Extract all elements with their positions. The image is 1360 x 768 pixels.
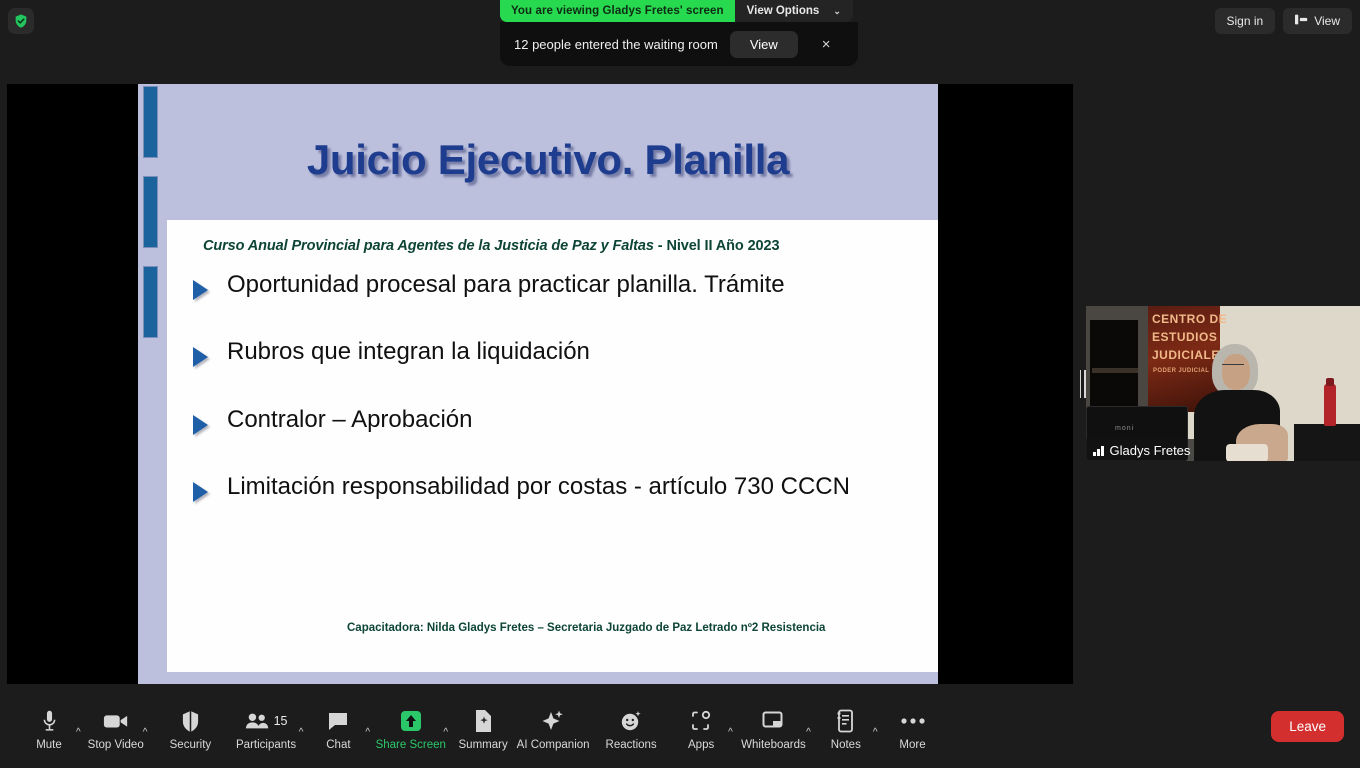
chevron-up-icon-chat[interactable]: ^	[365, 714, 370, 738]
toolbar-button-stop-video[interactable]: Stop Video	[85, 701, 147, 751]
video-camera-icon	[103, 707, 129, 735]
view-label: View	[1314, 14, 1340, 28]
toolbar-label-chat: Chat	[326, 739, 350, 751]
bullet-triangle-icon	[193, 415, 208, 435]
toolbar-group-ai-companion: AI Companion	[514, 701, 592, 751]
chevron-up-icon-apps[interactable]: ^	[728, 714, 733, 738]
bullet-triangle-icon	[193, 280, 208, 300]
people-icon: 15	[245, 707, 288, 735]
toolbar-label-mute: Mute	[36, 739, 62, 751]
view-options-label: View Options	[747, 5, 820, 17]
banner-line-2: ESTUDIOS	[1152, 330, 1217, 344]
sparkle-icon	[541, 707, 565, 735]
bullet-suffix: - artículo 730 CCCN	[627, 473, 850, 500]
toolbar-group-more: More	[882, 701, 944, 751]
video-person-paper	[1226, 444, 1268, 461]
slide-bullet-list: Oportunidad procesal para practicar plan…	[179, 272, 919, 542]
list-item: Contralor – Aprobación	[179, 407, 919, 433]
toolbar-label-apps: Apps	[688, 739, 714, 751]
bullet-text: Contralor – Aprobación	[227, 406, 472, 433]
shield-check-icon[interactable]	[8, 8, 34, 34]
accent-bar-2	[143, 176, 158, 248]
layout-view-icon	[1295, 14, 1308, 28]
monitor-screen-text: moni	[1115, 425, 1134, 432]
accent-bar-1	[143, 86, 158, 158]
video-person-glasses	[1222, 364, 1244, 369]
chevron-up-icon-participants[interactable]: ^	[299, 714, 304, 738]
view-layout-button[interactable]: View	[1283, 8, 1352, 34]
toolbar-button-reactions[interactable]: Reactions	[592, 701, 670, 751]
toolbar-group-chat: Chat ^	[307, 701, 374, 751]
smiley-icon	[620, 707, 642, 735]
video-thermos	[1324, 384, 1336, 426]
participant-name-label: Gladys Fretes	[1110, 443, 1191, 458]
toolbar-button-summary[interactable]: Summary	[452, 701, 514, 751]
list-item: Rubros que integran la liquidación	[179, 339, 919, 365]
banner-line-4: PODER JUDICIAL	[1153, 368, 1209, 374]
video-shelf	[1092, 368, 1138, 373]
participants-count: 15	[274, 714, 288, 728]
toolbar-button-ai-companion[interactable]: AI Companion	[514, 701, 592, 751]
slide-subtitle-level: - Nivel II Año 2023	[654, 238, 780, 254]
notification-message: 12 people entered the waiting room	[514, 37, 718, 52]
toolbar-button-apps[interactable]: Apps	[670, 701, 732, 751]
toolbar-group-security: Security	[151, 701, 229, 751]
video-table	[1294, 424, 1360, 461]
toolbar-button-share-screen[interactable]: Share Screen	[374, 701, 447, 751]
video-thermos-cap	[1326, 378, 1334, 386]
chevron-down-icon: ⌄	[833, 7, 841, 16]
bullet-text: Rubros que integran la liquidación	[227, 338, 590, 365]
accent-bar-3	[143, 266, 158, 338]
toolbar-button-whiteboards[interactable]: Whiteboards	[737, 701, 810, 751]
slide-subtitle-course: Curso Anual Provincial para Agentes de l…	[203, 238, 654, 254]
toolbar-group-apps: Apps ^	[670, 701, 737, 751]
toolbar-button-security[interactable]: Security	[151, 701, 229, 751]
drag-line-1	[1080, 370, 1082, 398]
bullet-triangle-icon	[193, 347, 208, 367]
toolbar-label-security: Security	[170, 739, 212, 751]
toolbar-group-video: Stop Video ^	[85, 701, 152, 751]
toolbar-label-share-screen: Share Screen	[376, 739, 446, 751]
participant-name-bar: Gladys Fretes	[1086, 439, 1199, 461]
audio-level-icon	[1093, 445, 1104, 456]
shared-screen-region: Juicio Ejecutivo. Planilla Curso Anual P…	[7, 84, 1073, 684]
slide-title: Juicio Ejecutivo. Planilla	[168, 136, 928, 184]
toolbar-button-mute[interactable]: Mute	[18, 701, 80, 751]
toolbar-label-stop-video: Stop Video	[88, 739, 144, 751]
bullet-text: Oportunidad procesal para practicar plan…	[227, 271, 785, 298]
slide-subtitle: Curso Anual Provincial para Agentes de l…	[203, 238, 913, 254]
waiting-room-notification: 12 people entered the waiting room View …	[500, 22, 858, 66]
slide-accent-bars	[143, 84, 161, 684]
video-person-face	[1222, 354, 1250, 390]
toolbar-group-reactions: Reactions	[592, 701, 670, 751]
participant-video-tile[interactable]: CENTRO DE ESTUDIOS JUDICIALES PODER JUDI…	[1086, 306, 1360, 461]
chat-bubble-icon	[327, 707, 349, 735]
chevron-up-icon-video[interactable]: ^	[143, 714, 148, 738]
sign-in-button[interactable]: Sign in	[1215, 8, 1276, 34]
chevron-up-icon-whiteboards[interactable]: ^	[806, 714, 811, 738]
summary-doc-icon	[473, 707, 493, 735]
toolbar-label-more: More	[899, 739, 925, 751]
microphone-icon	[41, 707, 58, 735]
meeting-toolbar: Mute ^ Stop Video ^	[0, 684, 1360, 768]
bullet-triangle-icon	[193, 482, 208, 502]
toolbar-group-notes: Notes ^	[815, 701, 882, 751]
close-icon[interactable]: ×	[816, 34, 837, 55]
zoom-meeting-window: You are viewing Gladys Fretes' screen Vi…	[0, 0, 1360, 768]
toolbar-group-mute: Mute ^	[18, 701, 85, 751]
leave-button[interactable]: Leave	[1271, 711, 1344, 742]
toolbar-label-notes: Notes	[831, 739, 861, 751]
toolbar-button-participants[interactable]: 15 Participants	[229, 701, 302, 751]
whiteboard-icon	[761, 707, 785, 735]
sharing-banner-text: You are viewing Gladys Fretes' screen	[500, 0, 735, 22]
sign-in-label: Sign in	[1227, 14, 1264, 28]
banner-line-1: CENTRO DE	[1152, 312, 1227, 326]
slide-content-panel: Curso Anual Provincial para Agentes de l…	[167, 220, 938, 672]
top-right-controls: Sign in View	[1215, 8, 1353, 34]
shield-icon	[181, 707, 200, 735]
chevron-up-icon-notes[interactable]: ^	[873, 714, 878, 738]
list-item: Limitación responsabilidad por costas - …	[179, 474, 919, 500]
notification-view-button[interactable]: View	[730, 31, 798, 58]
toolbar-button-notes[interactable]: Notes	[815, 701, 877, 751]
notes-icon	[836, 707, 855, 735]
presentation-slide: Juicio Ejecutivo. Planilla Curso Anual P…	[138, 84, 938, 684]
toolbar-group-whiteboards: Whiteboards ^	[737, 701, 815, 751]
toolbar-group-share-screen: Share Screen ^	[374, 701, 452, 751]
toolbar-label-whiteboards: Whiteboards	[741, 739, 806, 751]
screen-sharing-banner: You are viewing Gladys Fretes' screen Vi…	[500, 0, 853, 22]
share-screen-icon	[399, 707, 423, 735]
ellipsis-icon	[900, 707, 926, 735]
toolbar-label-ai-companion: AI Companion	[517, 739, 590, 751]
toolbar-group-participants: 15 Participants ^	[229, 701, 307, 751]
list-item: Oportunidad procesal para practicar plan…	[179, 272, 919, 298]
toolbar-items: Mute ^ Stop Video ^	[0, 701, 944, 751]
toolbar-button-chat[interactable]: Chat	[307, 701, 369, 751]
bullet-text: Limitación responsabilidad por costas	[227, 473, 627, 500]
view-options-dropdown[interactable]: View Options ⌄	[735, 0, 853, 22]
toolbar-label-reactions: Reactions	[606, 739, 657, 751]
toolbar-group-summary: Summary	[452, 701, 514, 751]
toolbar-label-participants: Participants	[236, 739, 296, 751]
apps-icon	[690, 707, 712, 735]
top-bar: You are viewing Gladys Fretes' screen Vi…	[0, 0, 1360, 84]
toolbar-label-summary: Summary	[459, 739, 508, 751]
chevron-up-icon-mute[interactable]: ^	[76, 714, 81, 738]
chevron-up-icon-share[interactable]: ^	[443, 714, 448, 738]
slide-presenter-credit: Capacitadora: Nilda Gladys Fretes – Secr…	[347, 622, 927, 634]
toolbar-button-more[interactable]: More	[882, 701, 944, 751]
